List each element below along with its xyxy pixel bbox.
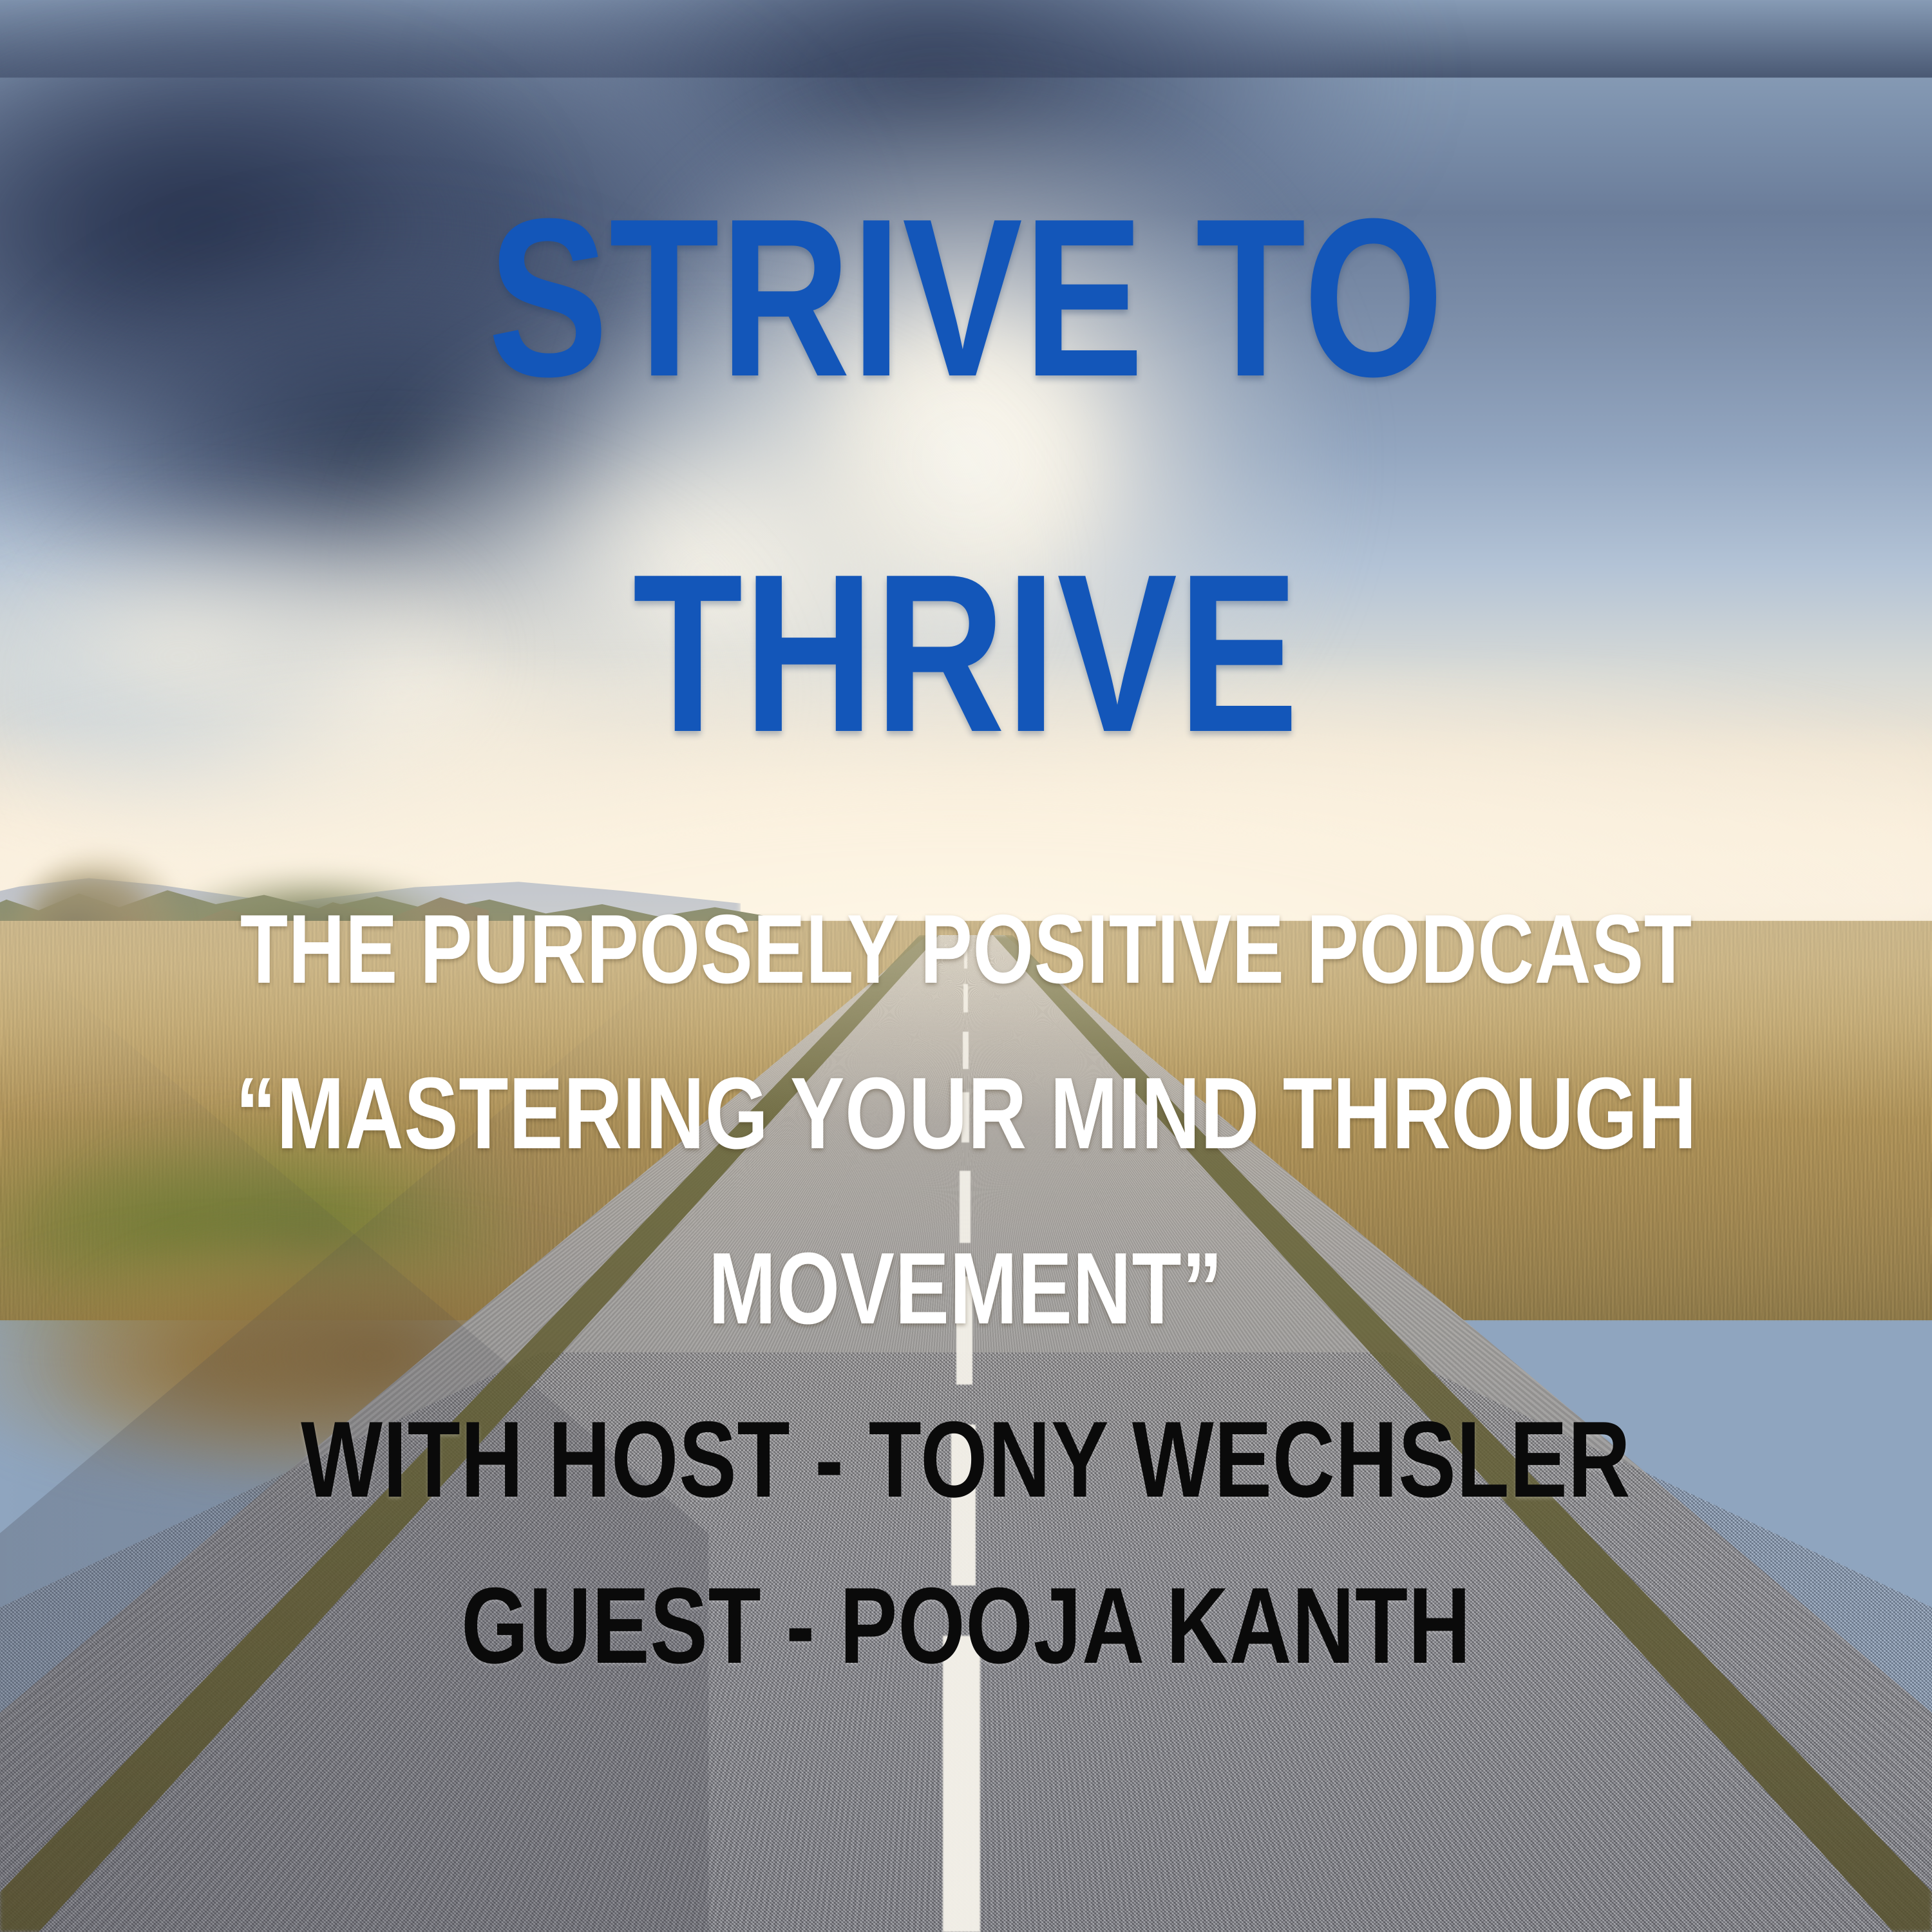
episode-title-line-2-text: MOVEMENT” (708, 1238, 1223, 1340)
show-tagline: THE PURPOSELY POSITIVE PODCAST (0, 900, 1932, 998)
host-credit: WITH HOST - TONY WECHSLER (0, 1405, 1932, 1513)
host-credit-text: WITH HOST - TONY WECHSLER (301, 1405, 1631, 1513)
show-title-line-1-text: STRIVE TO (488, 185, 1444, 411)
guest-credit: GUEST - POOJA KANTH (0, 1571, 1932, 1680)
episode-title-line-1: “MASTERING YOUR MIND THROUGH (0, 1063, 1932, 1164)
episode-title-line-1-text: “MASTERING YOUR MIND THROUGH (235, 1063, 1697, 1164)
guest-credit-text: GUEST - POOJA KANTH (461, 1571, 1471, 1680)
show-tagline-text: THE PURPOSELY POSITIVE PODCAST (240, 900, 1692, 998)
podcast-cover-artwork: STRIVE TO THRIVE THE PURPOSELY POSITIVE … (0, 0, 1932, 1932)
show-title-line-2: THRIVE (0, 541, 1932, 766)
episode-title-line-2: MOVEMENT” (0, 1238, 1932, 1340)
show-title-line-2-text: THRIVE (632, 541, 1299, 766)
text-overlay: STRIVE TO THRIVE THE PURPOSELY POSITIVE … (0, 0, 1932, 1932)
show-title-line-1: STRIVE TO (0, 185, 1932, 411)
